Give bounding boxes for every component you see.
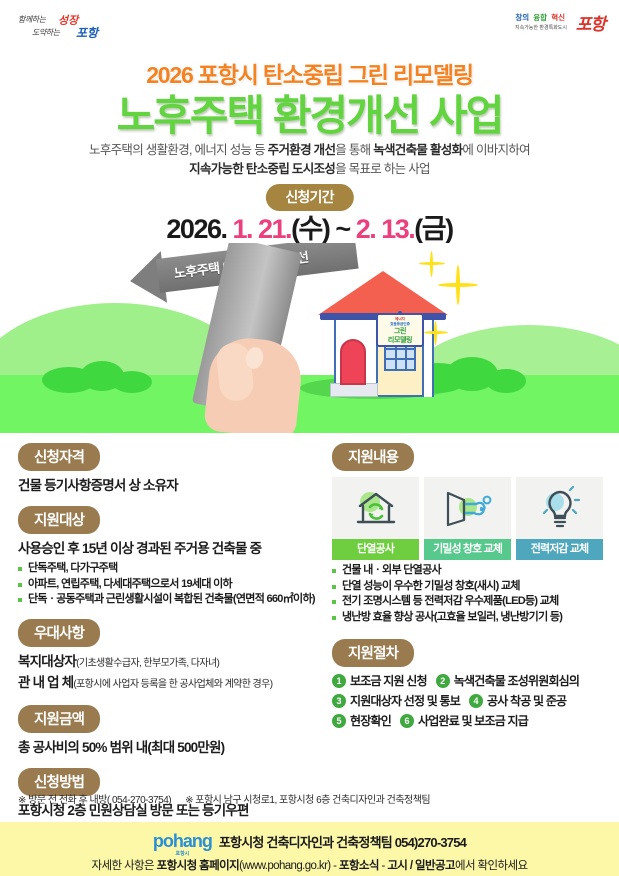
city-logo-tags: 창의 융합 혁신 — [513, 12, 565, 23]
procedure-step-4: 4 공사 착공 및 준공 — [469, 692, 566, 709]
support-bullet-list: 건물 내ㆍ외부 단열공사 단열 성능이 우수한 기밀성 창호(새시) 교체 전기… — [332, 563, 604, 625]
pohang-slogan-logo: 함께하는 성장 도약하는 포항 — [18, 12, 138, 52]
support-card-window: 기밀성 창호 교체 — [424, 477, 511, 560]
preference-row-2-note: (포항시에 사업자 등록을 한 공사업체와 계약한 경우) — [73, 679, 272, 690]
procedure-row: 3 지원대상자 선정 및 통보 4 공사 착공 및 준공 — [332, 692, 604, 709]
support-card-power: 전력저감 교체 — [516, 477, 603, 560]
step-number: 5 — [332, 714, 346, 728]
bush-shape — [486, 369, 526, 393]
description-line-2: 지속가능한 탄소중립 도시조성을 목표로 하는 사업 — [30, 160, 589, 179]
preference-badge: 우대사항 — [18, 619, 100, 647]
power-card-label: 전력저감 교체 — [516, 539, 603, 560]
preference-row-1: 복지대상자(기초생활수급자, 한부모가족, 다자녀) — [18, 652, 318, 673]
sparkle-icon — [456, 265, 460, 305]
footer-note-e: 포항소식 — [339, 860, 379, 872]
window-airflow-icon — [442, 487, 494, 529]
poster-root: 함께하는 성장 도약하는 포항 창의 융합 혁신 지속가능한 환경특화도시 포항… — [0, 0, 619, 876]
desc-2a: 지속가능한 탄소중립 도시조성 — [189, 162, 335, 176]
footer-note-h: 에서 확인하세요 — [455, 860, 527, 872]
section-amount: 지원금액 총 공사비의 50% 범위 내(최대 500만원) — [18, 705, 318, 757]
amount-badge: 지원금액 — [18, 705, 100, 733]
list-item: 냉난방 효율 향상 공사(고효율 보일러, 냉난방기기 등) — [332, 610, 604, 626]
preference-row-2: 관 내 업 체(포항시에 사업자 등록을 한 공사업체와 계약한 경우) — [18, 673, 318, 694]
insulation-card-label: 단열공사 — [332, 539, 419, 560]
target-headline: 사용승인 후 15년 이상 경과된 주거용 건축물 중 — [18, 539, 318, 558]
window-card-label: 기밀성 창호 교체 — [424, 539, 511, 560]
list-item: 단독ㆍ공동주택과 근린생활시설이 복합된 건축물(연면적 660㎡이하) — [18, 592, 318, 608]
insulation-card-image — [332, 477, 419, 539]
procedure-step-2: 2 녹색건축물 조성위원회심의 — [436, 672, 579, 689]
step-number: 2 — [436, 674, 450, 688]
sparkle-icon — [430, 251, 433, 277]
step-label: 녹색건축물 조성위원회심의 — [454, 672, 579, 689]
target-badge: 지원대상 — [18, 506, 100, 534]
footer-contact-row: pohang 포항시 포항시청 건축디자인과 건축정책팀 054)270-375… — [0, 831, 619, 852]
right-column: 지원내용 — [332, 443, 604, 740]
preference-row-2-main: 관 내 업 체 — [18, 675, 73, 690]
bush-shape — [112, 371, 152, 393]
window-transom — [386, 348, 414, 350]
section-qualification: 신청자격 건물 등기사항증명서 상 소유자 — [18, 443, 318, 495]
house-steps — [330, 383, 378, 397]
city-logo-subtitle: 지속가능한 환경특화도시 — [515, 24, 567, 31]
step-number: 4 — [469, 694, 483, 708]
power-card-image — [516, 477, 603, 539]
desc-1c: 을 통해 — [335, 143, 373, 157]
desc-1d: 녹색건축물 활성화 — [373, 143, 462, 157]
city-tag-3: 혁신 — [551, 13, 565, 22]
list-item: 단독주택, 다가구주택 — [18, 561, 318, 577]
footer: pohang 포항시 포항시청 건축디자인과 건축정책팀 054)270-375… — [0, 822, 619, 876]
target-bullet-list: 단독주택, 다가구주택 아파트, 연립주택, 다세대주택으로서 19세대 이하 … — [18, 561, 318, 608]
pohang-wordmark-logo: pohang 포항시 — [153, 831, 212, 852]
step-label: 사업완료 및 보조금 지급 — [418, 712, 528, 729]
procedure-step-3: 3 지원대상자 선정 및 통보 — [332, 692, 460, 709]
section-preference: 우대사항 복지대상자(기초생활수급자, 한부모가족, 다자녀) 관 내 업 체(… — [18, 619, 318, 694]
city-tag-1: 창의 — [515, 13, 529, 22]
step-number: 6 — [400, 714, 414, 728]
list-item: 건물 내ㆍ외부 단열공사 — [332, 563, 604, 579]
poster-description: 노후주택의 생활환경, 에너지 성능 등 주거환경 개선을 통해 녹색건축물 활… — [30, 141, 589, 179]
list-item: 아파트, 연립주택, 다세대주택으로서 19세대 이하 — [18, 577, 318, 593]
preference-row-1-main: 복지대상자 — [18, 654, 76, 669]
step-label: 지원대상자 선정 및 통보 — [350, 692, 460, 709]
period-start-day: (수) — [291, 214, 329, 244]
desc-1e: 에 이바지하여 — [462, 143, 530, 157]
qualification-badge: 신청자격 — [18, 443, 100, 471]
amount-body: 총 공사비의 50% 범위 내(최대 500만원) — [18, 738, 318, 757]
pohang-wordmark-text: pohang — [153, 831, 212, 851]
footer-note-g: 고시 / 일반공고 — [387, 860, 455, 872]
illustration: 에너지 효율등급인증 그린 리모델링 노후주택 에너지 성능 개선 — [0, 243, 619, 433]
support-cards: 단열공사 — [332, 477, 604, 560]
slogan-accent-2: 포항 — [76, 24, 98, 41]
period-year: 2026. — [166, 214, 226, 244]
step-label: 공사 착공 및 준공 — [487, 692, 566, 709]
procedure-badge: 지원절차 — [332, 639, 414, 667]
step-label: 보조금 지원 신청 — [350, 672, 427, 689]
preference-row-1-note: (기초생활수급자, 한부모가족, 다자녀) — [76, 658, 219, 669]
qualification-body: 건물 등기사항증명서 상 소유자 — [18, 476, 318, 495]
procedure-step-1: 1 보조금 지원 신청 — [332, 672, 427, 689]
pohang-city-logo: 창의 융합 혁신 지속가능한 환경특화도시 포항 — [489, 10, 605, 48]
method-note-1: ※ 방문 전 전화 후 내방( 054-270-3754) — [18, 795, 171, 806]
poster-title: 노후주택 환경개선 사업 — [0, 82, 619, 143]
sign-line-4: 리모델링 — [378, 336, 422, 345]
period-end-date: 2. 13. — [356, 214, 415, 244]
slogan-line-1: 함께하는 — [18, 14, 45, 25]
procedure-step-6: 6 사업완료 및 보조금 지급 — [400, 712, 528, 729]
step-label: 현장확인 — [350, 712, 391, 729]
slogan-line-2: 도약하는 — [32, 27, 59, 38]
sign-line-3: 그린 — [378, 327, 422, 336]
lightbulb-icon — [537, 486, 583, 530]
section-target: 지원대상 사용승인 후 15년 이상 경과된 주거용 건축물 중 단독주택, 다… — [18, 506, 318, 608]
footer-note-a: 자세한 사항은 — [92, 860, 157, 872]
pohang-wordmark-sub: 포항시 — [175, 850, 189, 857]
footer-note-d: - — [331, 860, 339, 872]
city-logo-mark: 포항 — [576, 10, 605, 35]
description-line-1: 노후주택의 생활환경, 에너지 성능 등 주거환경 개선을 통해 녹색건축물 활… — [30, 141, 589, 160]
procedure-step-5: 5 현장확인 — [332, 712, 391, 729]
preference-body: 복지대상자(기초생활수급자, 한부모가족, 다자녀) 관 내 업 체(포항시에 … — [18, 652, 318, 694]
section-procedure: 지원절차 1 보조금 지원 신청 2 녹색건축물 조성위원회심의 — [332, 639, 604, 729]
list-item: 단열 성능이 우수한 기밀성 창호(새시) 교체 — [332, 579, 604, 595]
city-tag-2: 융합 — [533, 13, 547, 22]
footer-note-b: 포항시청 홈페이지 — [157, 860, 239, 872]
method-note-2: ※ 포항시 남구 시청로1, 포항시청 6층 건축디자인과 건축정책팀 — [185, 795, 430, 806]
procedure-steps: 1 보조금 지원 신청 2 녹색건축물 조성위원회심의 3 지원대상자 선정 및… — [332, 672, 604, 729]
support-card-insulation: 단열공사 — [332, 477, 419, 560]
step-number: 3 — [332, 694, 346, 708]
section-support: 지원내용 — [332, 443, 604, 625]
sparkle-icon — [434, 321, 437, 345]
desc-1b: 주거환경 개선 — [268, 143, 336, 157]
left-column: 신청자격 건물 등기사항증명서 상 소유자 지원대상 사용승인 후 15년 이상… — [18, 443, 318, 831]
house-recycle-icon — [353, 487, 399, 529]
method-notes: ※ 방문 전 전화 후 내방( 054-270-3754)※ 포항시 남구 시청… — [18, 791, 598, 806]
period-end-day: (금) — [414, 214, 452, 244]
footer-website-note: 자세한 사항은 포항시청 홈페이지(www.pohang.go.kr) - 포항… — [0, 857, 619, 873]
footer-note-c: (www.pohang.go.kr) — [239, 860, 330, 872]
desc-1a: 노후주택의 생활환경, 에너지 성능 등 — [89, 143, 268, 157]
window-card-image — [424, 477, 511, 539]
desc-2b: 을 목표로 하는 사업 — [335, 162, 430, 176]
list-item: 전기 조명시스템 등 전력저감 우수제품(LED등) 교체 — [332, 594, 604, 610]
period-tilde: ~ — [335, 214, 349, 244]
sign-pin — [398, 311, 402, 315]
support-badge: 지원내용 — [332, 443, 414, 471]
window-transom — [386, 358, 414, 360]
footer-department: 포항시청 건축디자인과 건축정책팀 054)270-3754 — [219, 832, 466, 851]
period-start-date: 1. 21. — [233, 214, 292, 244]
step-number: 1 — [332, 674, 346, 688]
procedure-row: 5 현장확인 6 사업완료 및 보조금 지급 — [332, 712, 604, 729]
application-period-dates: 2026. 1. 21.(수) ~ 2. 13.(금) — [0, 207, 619, 246]
procedure-row: 1 보조금 지원 신청 2 녹색건축물 조성위원회심의 — [332, 672, 604, 689]
green-remodeling-sign: 에너지 효율등급인증 그린 리모델링 — [376, 313, 424, 347]
